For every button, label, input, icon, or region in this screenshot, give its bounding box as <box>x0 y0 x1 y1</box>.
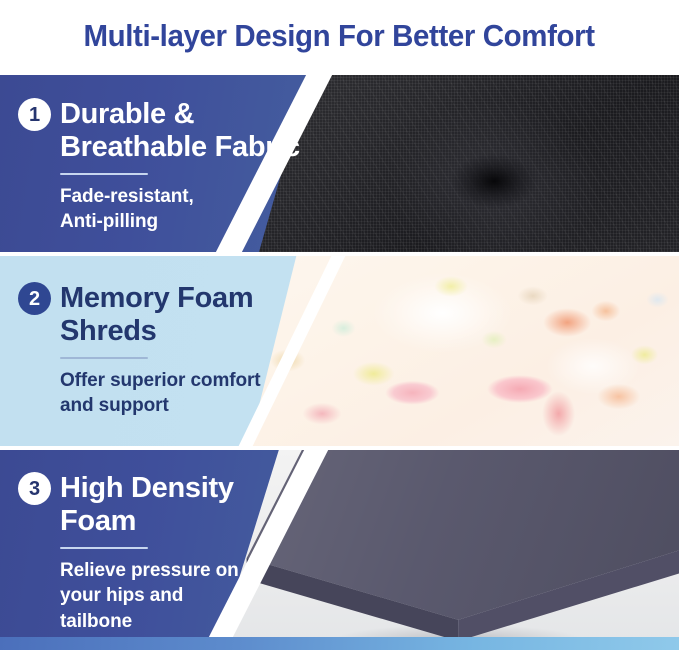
panel-2-divider <box>60 357 148 359</box>
bottom-accent-strip <box>0 637 679 650</box>
step-number-badge-3: 3 <box>18 472 51 505</box>
panel-2-subtext: Offer superior comfort and support <box>60 368 318 419</box>
panel-3-content: 3 High Density Foam Relieve pressure on … <box>18 450 318 643</box>
panel-3-subtext: Relieve pressure on your hips and tailbo… <box>60 558 318 634</box>
panel-2-content: 2 Memory Foam Shreds Offer superior comf… <box>18 256 318 446</box>
step-number-badge-1: 1 <box>18 98 51 131</box>
panel-1-subtext: Fade-resistant, Anti-pilling <box>60 184 318 235</box>
panel-3-divider <box>60 547 148 549</box>
feature-panel-2: 2 Memory Foam Shreds Offer superior comf… <box>0 256 679 446</box>
infographic-title-bar: Multi-layer Design For Better Comfort <box>0 0 679 70</box>
page-title: Multi-layer Design For Better Comfort <box>84 20 595 51</box>
panel-1-divider <box>60 173 148 175</box>
dark-charcoal-tufted-fabric-photo <box>259 75 679 252</box>
panel-1-content: 1 Durable & Breathable Fabric Fade-resis… <box>18 75 318 252</box>
panel-2-heading-row: 2 Memory Foam Shreds <box>18 282 318 348</box>
step-number-badge-2: 2 <box>18 282 51 315</box>
feature-panel-1: 1 Durable & Breathable Fabric Fade-resis… <box>0 75 679 252</box>
product-feature-infographic: Multi-layer Design For Better Comfort 1 … <box>0 0 679 650</box>
panel-3-heading-row: 3 High Density Foam <box>18 472 318 538</box>
panel-1-heading-row: 1 Durable & Breathable Fabric <box>18 98 318 164</box>
panel-2-heading: Memory Foam Shreds <box>60 282 253 348</box>
panel-1-heading: Durable & Breathable Fabric <box>60 98 300 164</box>
panel-3-heading: High Density Foam <box>60 472 234 538</box>
feature-panel-3: 3 High Density Foam Relieve pressure on … <box>0 450 679 643</box>
